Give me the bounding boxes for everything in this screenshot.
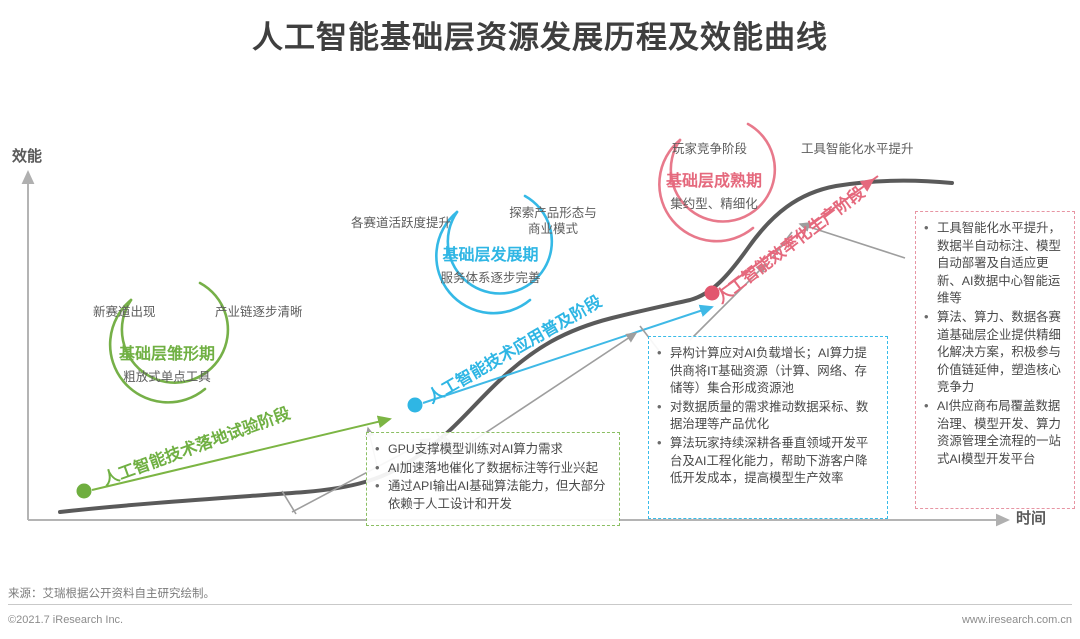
chart-canvas: 人工智能基础层资源发展历程及效能曲线 bbox=[0, 0, 1080, 639]
source-note: 来源：艾瑞根据公开资料自主研究绘制。 bbox=[8, 585, 215, 601]
callout-blue-item: 异构计算应对AI负载增长；AI算力提供商将IT基础资源（计算、网络、存储等）集合… bbox=[655, 345, 878, 398]
phase-label-blue: 基础层发展期 服务体系逐步完善 bbox=[423, 241, 558, 286]
note-blue-left: 各赛道活跃度提升 bbox=[351, 216, 451, 232]
callout-pink-item: 算法、算力、数据各赛道基础层企业提供精细化解决方案，积极参与价值链延伸，塑造核心… bbox=[922, 309, 1065, 397]
phase-blue-subtitle: 服务体系逐步完善 bbox=[423, 267, 558, 286]
phase-label-green: 基础层雏形期 粗放式单点工具 bbox=[97, 340, 237, 385]
callout-green-item: AI加速落地催化了数据标注等行业兴起 bbox=[373, 460, 610, 478]
stage-dot-green bbox=[77, 484, 92, 499]
phase-pink-title: 基础层成熟期 bbox=[645, 167, 783, 191]
note-blue-right: 探索产品形态与商业模式 bbox=[505, 206, 601, 237]
callout-blue-item: 算法玩家持续深耕各垂直领域开发平台及AI工程化能力，帮助下游客户降低开发成本，提… bbox=[655, 435, 878, 488]
callout-green: GPU支撑模型训练对AI算力需求 AI加速落地催化了数据标注等行业兴起 通过AP… bbox=[366, 432, 620, 526]
callout-pink-item: 工具智能化水平提升，数据半自动标注、模型自动部署及自适应更新、AI数据中心智能运… bbox=[922, 220, 1065, 308]
phase-label-pink: 基础层成熟期 集约型、精细化 bbox=[645, 167, 783, 212]
x-axis-label: 时间 bbox=[1016, 507, 1046, 528]
phase-blue-title: 基础层发展期 bbox=[423, 241, 558, 265]
copyright-text: ©2021.7 iResearch Inc. bbox=[8, 614, 123, 626]
note-pink-left: 玩家竞争阶段 bbox=[672, 142, 747, 158]
phase-green-subtitle: 粗放式单点工具 bbox=[97, 366, 237, 385]
note-green-left: 新赛道出现 bbox=[93, 305, 156, 321]
footer-divider bbox=[8, 604, 1072, 605]
note-green-right: 产业链逐步清晰 bbox=[215, 305, 303, 321]
callout-pink: 工具智能化水平提升，数据半自动标注、模型自动部署及自适应更新、AI数据中心智能运… bbox=[915, 211, 1075, 509]
callout-pink-item: AI供应商布局覆盖数据治理、模型开发、算力资源管理全流程的一站式AI模型开发平台 bbox=[922, 398, 1065, 468]
callout-blue: 异构计算应对AI负载增长；AI算力提供商将IT基础资源（计算、网络、存储等）集合… bbox=[648, 336, 888, 519]
stage-dot-blue bbox=[408, 398, 423, 413]
callout-green-item: GPU支撑模型训练对AI算力需求 bbox=[373, 441, 610, 459]
callout-blue-item: 对数据质量的需求推动数据采标、数据治理等产品优化 bbox=[655, 399, 878, 434]
phase-pink-subtitle: 集约型、精细化 bbox=[645, 193, 783, 212]
note-pink-right: 工具智能化水平提升 bbox=[801, 142, 914, 158]
phase-green-title: 基础层雏形期 bbox=[97, 340, 237, 364]
website-link[interactable]: www.iresearch.com.cn bbox=[962, 614, 1072, 626]
y-axis-label: 效能 bbox=[12, 145, 42, 166]
callout-green-item: 通过API输出AI基础算法能力，但大部分依赖于人工设计和开发 bbox=[373, 478, 610, 513]
